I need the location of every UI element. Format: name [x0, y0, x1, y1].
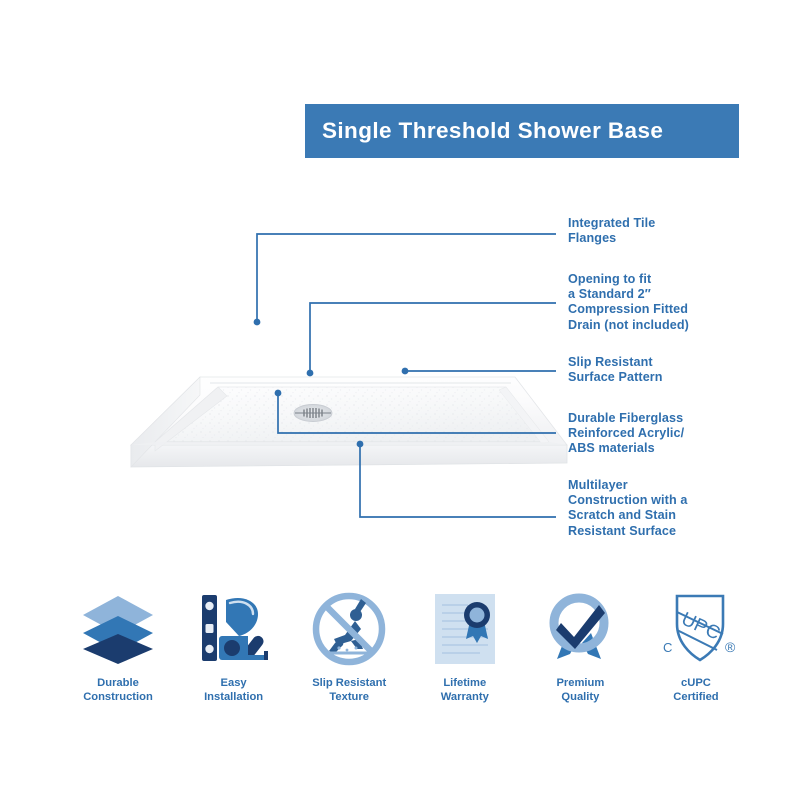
page-title-banner: Single Threshold Shower Base	[305, 104, 739, 158]
feature-label-durable-construction: Durable Construction	[83, 677, 153, 704]
feature-badges-row: Durable Construction	[62, 588, 752, 718]
callout-label-multilayer-construction: Multilayer Construction with a Scratch a…	[568, 478, 687, 539]
feature-premium-quality: Premium Quality	[524, 588, 636, 704]
feature-lifetime-warranty: Lifetime Warranty	[409, 588, 521, 704]
page-title: Single Threshold Shower Base	[322, 118, 663, 144]
feature-label-cupc-certified: cUPC Certified	[673, 677, 718, 704]
product-illustration	[55, 295, 575, 495]
callout-label-integrated-tile-flanges: Integrated Tile Flanges	[568, 216, 655, 246]
callout-label-durable-materials: Durable Fiberglass Reinforced Acrylic/ A…	[568, 411, 684, 457]
certificate-icon	[432, 588, 498, 670]
feature-label-slip-resistant: Slip Resistant Texture	[312, 677, 386, 704]
feature-durable-construction: Durable Construction	[62, 588, 174, 704]
feature-label-lifetime-warranty: Lifetime Warranty	[441, 677, 489, 704]
rosette-check-icon	[543, 588, 617, 670]
upc-registered-mark: ®	[725, 639, 736, 655]
no-slip-icon	[311, 588, 387, 670]
callout-label-drain-opening: Opening to fit a Standard 2″ Compression…	[568, 272, 689, 333]
feature-slip-resistant: Slip Resistant Texture	[293, 588, 405, 704]
feature-easy-installation: Easy Installation	[178, 588, 290, 704]
upc-left-letter: C	[663, 640, 672, 655]
infographic-page: Single Threshold Shower Base	[0, 0, 806, 806]
tools-icon	[196, 588, 272, 670]
feature-label-premium-quality: Premium Quality	[556, 677, 604, 704]
upc-mark-text: UPC	[678, 609, 723, 645]
feature-cupc-certified: UPC C ® cUPC Certified	[640, 588, 752, 704]
upc-shield-icon: UPC C ®	[655, 588, 737, 670]
layers-icon	[79, 588, 157, 670]
feature-label-easy-installation: Easy Installation	[204, 677, 263, 704]
callout-label-slip-resistant-surface: Slip Resistant Surface Pattern	[568, 355, 663, 385]
